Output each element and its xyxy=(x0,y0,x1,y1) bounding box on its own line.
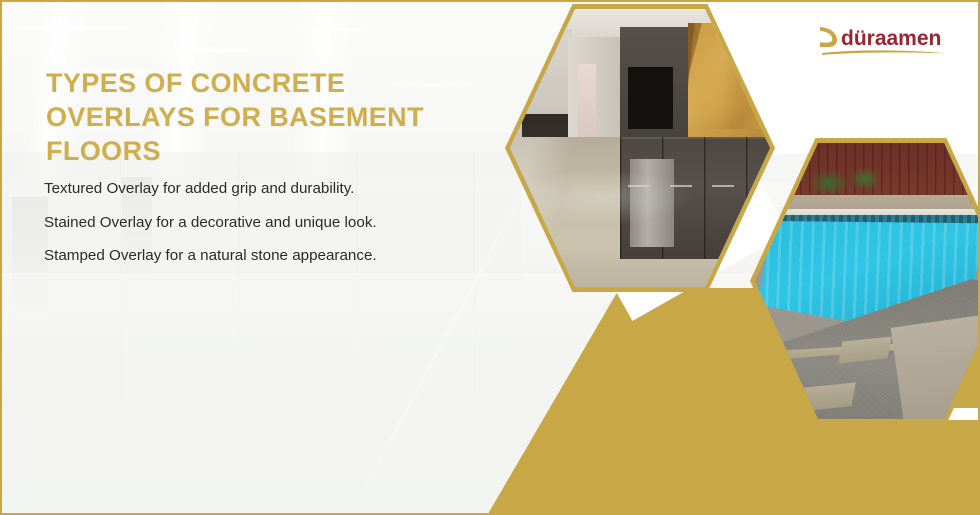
logo-wordmark: düraamen xyxy=(841,27,941,50)
gold-ii-glyph xyxy=(522,332,722,515)
list-item: Stained Overlay for a decorative and uni… xyxy=(44,214,459,232)
overlay-type-list: Textured Overlay for added grip and dura… xyxy=(44,180,459,265)
page-title: Types of Concrete Overlays for Basement … xyxy=(46,66,486,168)
list-item: Textured Overlay for added grip and dura… xyxy=(44,180,459,198)
poster-canvas: düraamen Types of Concrete Overlays for … xyxy=(0,0,980,515)
duraamen-logo[interactable]: düraamen xyxy=(814,19,954,59)
list-item: Stamped Overlay for a natural stone appe… xyxy=(44,247,459,265)
